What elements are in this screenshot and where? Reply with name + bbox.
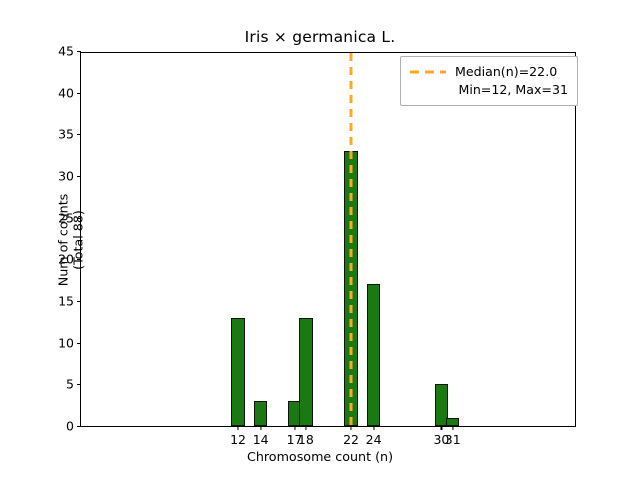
y-tick-label: 25 — [58, 210, 74, 225]
legend-minmax-text: Min=12, Max=31 — [410, 81, 568, 99]
y-tick-label: 20 — [58, 252, 74, 267]
median-line — [350, 53, 353, 426]
y-tick-label: 45 — [58, 44, 74, 59]
x-tick-mark — [350, 426, 351, 430]
median-line-layer — [81, 53, 575, 426]
x-tick-mark — [238, 426, 239, 430]
x-tick-mark — [373, 426, 374, 430]
y-tick-mark — [77, 426, 81, 427]
x-tick-label: 22 — [343, 432, 359, 447]
x-tick-label: 31 — [445, 432, 461, 447]
y-tick-label: 35 — [58, 127, 74, 142]
y-tick-label: 30 — [58, 169, 74, 184]
y-tick-label: 40 — [58, 85, 74, 100]
x-tick-mark — [452, 426, 453, 430]
x-tick-mark — [441, 426, 442, 430]
x-axis-label: Chromosome count (n) — [0, 449, 640, 464]
y-tick-label: 15 — [58, 294, 74, 309]
x-tick-label: 24 — [366, 432, 382, 447]
x-tick-label: 18 — [298, 432, 314, 447]
chart-figure: Iris × germanica L. Num of counts (Total… — [0, 0, 640, 480]
x-tick-mark — [305, 426, 306, 430]
y-tick-label: 5 — [66, 377, 74, 392]
y-tick-label: 0 — [66, 419, 74, 434]
x-tick-mark — [260, 426, 261, 430]
x-tick-label: 14 — [253, 432, 269, 447]
y-tick-label: 10 — [58, 335, 74, 350]
legend-entry-label: Median(n)=22.0 — [455, 63, 557, 81]
x-tick-label: 12 — [230, 432, 246, 447]
legend: Median(n)=22.0 Min=12, Max=31 — [400, 56, 578, 106]
y-tick-mark — [77, 51, 81, 52]
dashed-line-icon — [410, 66, 446, 78]
x-tick-mark — [294, 426, 295, 430]
legend-entry-median: Median(n)=22.0 — [410, 63, 568, 81]
plot-area: Num of counts (Total 88) 051015202530354… — [80, 52, 576, 427]
chart-title: Iris × germanica L. — [0, 28, 640, 46]
